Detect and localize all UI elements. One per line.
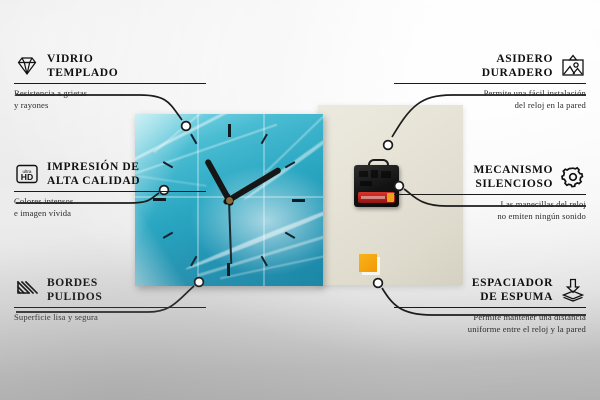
gear-icon (560, 165, 586, 189)
feature-title-line1: BORDES (47, 276, 102, 290)
feature-description: Resistencia a grietas y rayones (14, 88, 206, 111)
feature-title: BORDES PULIDOS (47, 276, 102, 304)
connector-dot-asidero (384, 141, 393, 150)
feature-title: VIDRIO TEMPLADO (47, 52, 118, 80)
feature-espaciador-de-espuma: ESPACIADOR DE ESPUMA Permite mantener un… (394, 276, 586, 335)
polished-edges-icon (14, 278, 40, 302)
feature-asidero-duradero: ASIDERO DURADERO Permite una fácil insta… (394, 52, 586, 111)
ultra-hd-icon: ultra HD (14, 162, 40, 186)
feature-title-line2: DURADERO (482, 66, 553, 80)
feature-title-line2: SILENCIOSO (473, 177, 553, 191)
svg-text:HD: HD (21, 172, 33, 182)
feature-desc-line2: uniforme entre el reloj y la pared (394, 324, 586, 335)
feature-title: ASIDERO DURADERO (482, 52, 553, 80)
feature-title: IMPRESIÓN DE ALTA CALIDAD (47, 160, 140, 188)
feature-title-line2: TEMPLADO (47, 66, 118, 80)
feature-header: ASIDERO DURADERO (394, 52, 586, 80)
feature-title-line2: DE ESPUMA (472, 290, 553, 304)
feature-title-line1: ESPACIADOR (472, 276, 553, 290)
feature-description: Colores intensos e imagen vívida (14, 196, 206, 219)
feature-divider (14, 191, 206, 192)
feature-header: ultra HD IMPRESIÓN DE ALTA CALIDAD (14, 160, 206, 188)
feature-header: BORDES PULIDOS (14, 276, 206, 304)
feature-desc-line1: Permite una fácil instalación (394, 88, 586, 99)
feature-divider (394, 83, 586, 84)
feature-desc-line2: del reloj en la pared (394, 100, 586, 111)
feature-desc-line2: no emiten ningún sonido (394, 211, 586, 222)
feature-impresion-alta-calidad: ultra HD IMPRESIÓN DE ALTA CALIDAD Color… (14, 160, 206, 219)
feature-desc-line1: Resistencia a grietas (14, 88, 206, 99)
feature-title-line2: PULIDOS (47, 290, 102, 304)
diamond-icon (14, 54, 40, 78)
feature-desc-line2: y rayones (14, 100, 206, 111)
feature-title-line1: IMPRESIÓN DE (47, 160, 140, 174)
feature-desc-line2: e imagen vívida (14, 208, 206, 219)
feature-header: MECANISMO SILENCIOSO (394, 163, 586, 191)
feature-header: VIDRIO TEMPLADO (14, 52, 206, 80)
feature-title-line1: VIDRIO (47, 52, 118, 66)
feature-divider (14, 83, 206, 84)
infographic-canvas: VIDRIO TEMPLADO Resistencia a grietas y … (0, 0, 600, 400)
feature-title: MECANISMO SILENCIOSO (473, 163, 553, 191)
feature-description: Permite una fácil instalación del reloj … (394, 88, 586, 111)
feature-description: Las manecillas del reloj no emiten ningú… (394, 199, 586, 222)
foam-spacer-icon (560, 278, 586, 302)
feature-vidrio-templado: VIDRIO TEMPLADO Resistencia a grietas y … (14, 52, 206, 111)
feature-mecanismo-silencioso: MECANISMO SILENCIOSO Las manecillas del … (394, 163, 586, 222)
feature-desc-line1: Superficie lisa y segura (14, 312, 206, 323)
feature-desc-line1: Colores intensos (14, 196, 206, 207)
feature-title-line1: MECANISMO (473, 163, 553, 177)
feature-header: ESPACIADOR DE ESPUMA (394, 276, 586, 304)
hanging-frame-icon (560, 54, 586, 78)
feature-bordes-pulidos: BORDES PULIDOS Superficie lisa y segura (14, 276, 206, 324)
connector-dot-espuma (374, 279, 383, 288)
feature-divider (394, 194, 586, 195)
feature-desc-line1: Las manecillas del reloj (394, 199, 586, 210)
feature-divider (14, 307, 206, 308)
feature-desc-line1: Permite mantener una distancia (394, 312, 586, 323)
feature-divider (394, 307, 586, 308)
feature-description: Superficie lisa y segura (14, 312, 206, 323)
feature-description: Permite mantener una distancia uniforme … (394, 312, 586, 335)
feature-title-line1: ASIDERO (482, 52, 553, 66)
feature-title: ESPACIADOR DE ESPUMA (472, 276, 553, 304)
feature-title-line2: ALTA CALIDAD (47, 174, 140, 188)
connector-dot-vidrio (182, 122, 191, 131)
